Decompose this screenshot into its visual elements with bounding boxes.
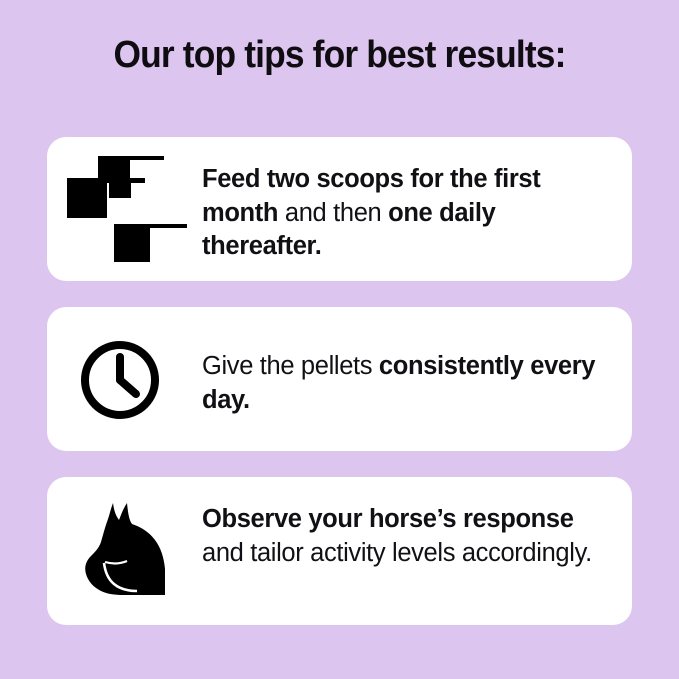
scoop-cup bbox=[98, 156, 130, 180]
tip-text: Give the pellets consistently every day. bbox=[202, 307, 632, 417]
tip-icon-slot bbox=[47, 137, 202, 281]
page-title: Our top tips for best results: bbox=[24, 33, 655, 77]
tip-text-run: and tailor activity levels accordingly. bbox=[202, 539, 592, 567]
scoop-cup bbox=[67, 178, 107, 218]
tips-panel: Our top tips for best results: bbox=[0, 0, 679, 679]
scoop-cup bbox=[109, 182, 131, 198]
clock-icon bbox=[80, 340, 160, 420]
tip-card: Feed two scoops for the first month and … bbox=[47, 137, 632, 281]
tip-card: Give the pellets consistently every day. bbox=[47, 307, 632, 451]
horse-head-icon bbox=[75, 495, 175, 601]
measuring-scoops-icon bbox=[67, 156, 185, 262]
tips-card-list: Feed two scoops for the first month and … bbox=[47, 137, 632, 651]
tip-text: Observe your horse’s response and tailor… bbox=[202, 477, 632, 570]
tip-text-run: and then bbox=[278, 199, 388, 227]
scoop-cup bbox=[114, 224, 150, 262]
tip-icon-slot bbox=[47, 477, 202, 625]
tip-card: Observe your horse’s response and tailor… bbox=[47, 477, 632, 625]
tip-text-emphasis: Observe your horse’s response bbox=[202, 505, 574, 533]
tip-icon-slot bbox=[47, 307, 202, 451]
tip-text-run: Give the pellets bbox=[202, 352, 379, 380]
scoop-handle bbox=[130, 156, 164, 160]
scoop-handle bbox=[150, 224, 187, 228]
tip-text: Feed two scoops for the first month and … bbox=[202, 137, 632, 264]
